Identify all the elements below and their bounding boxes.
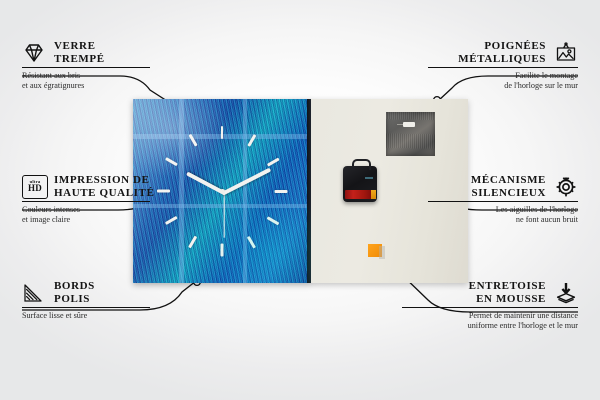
callout-title-line2: SILENCIEUX: [471, 187, 546, 200]
clock-center-pin: [220, 189, 225, 194]
callout-desc-line2: ne font aucun bruit: [428, 215, 578, 225]
callout-title-line1: ENTRETOISE: [469, 280, 546, 293]
callout-title-line1: POIGNÉES: [458, 40, 546, 53]
battery: [345, 190, 372, 199]
callout-rule: [428, 201, 578, 202]
callout-desc-line1: Surface lisse et sûre: [22, 311, 150, 321]
callout-desc-line1: Facilite le montage: [428, 71, 578, 81]
clock-minute-hand: [221, 168, 271, 196]
callout-desc-line2: et image claire: [22, 215, 154, 225]
callout-entretoise-en-mousse: ENTRETOISE EN MOUSSE Permet de maintenir…: [402, 280, 578, 331]
polished-edge-icon: [22, 281, 46, 305]
callout-desc-line1: Les aiguilles de l'horloge: [428, 205, 578, 215]
foam-spacer-icon: [554, 281, 578, 305]
picture-frame-icon: [554, 41, 578, 65]
callout-title-line2: POLIS: [54, 293, 95, 306]
callout-verre-trempe: VERRE TREMPÉ Résistant aux bris et aux é…: [22, 40, 150, 91]
callout-poignees-metalliques: POIGNÉES MÉTALLIQUES Facilite le montage…: [428, 40, 578, 91]
callout-bords-polis: BORDS POLIS Surface lisse et sûre: [22, 280, 150, 321]
diamond-icon: [22, 41, 46, 65]
callout-title-line1: BORDS: [54, 280, 95, 293]
ultra-hd-icon-bottom: HD: [28, 184, 42, 193]
callout-title-line1: MÉCANISME: [471, 174, 546, 187]
callout-title-line2: TREMPÉ: [54, 53, 105, 66]
product-image: [133, 99, 468, 283]
callout-title-line2: HAUTE QUALITÉ: [54, 187, 154, 200]
callout-title-line2: MÉTALLIQUES: [458, 53, 546, 66]
callout-desc-line2: de l'horloge sur le mur: [428, 81, 578, 91]
callout-desc-line1: Permet de maintenir une distance: [402, 311, 578, 321]
callout-desc-line2: uniforme entre l'horloge et le mur: [402, 321, 578, 331]
callout-title-line2: EN MOUSSE: [469, 293, 546, 306]
callout-desc-line1: Couleurs intenses: [22, 205, 154, 215]
metal-hanger-plate: [386, 112, 435, 156]
clock-mechanism-box: [343, 166, 377, 202]
foam-spacer-pad: [368, 244, 382, 257]
callout-impression-haute-qualite: ultra HD IMPRESSION DE HAUTE QUALITÉ Cou…: [22, 174, 154, 225]
callout-desc-line2: et aux égratignures: [22, 81, 150, 91]
callout-rule: [22, 67, 150, 68]
callout-rule: [22, 307, 150, 308]
callout-desc-line1: Résistant aux bris: [22, 71, 150, 81]
ultra-hd-icon: ultra HD: [22, 175, 46, 199]
callout-rule: [402, 307, 578, 308]
callout-rule: [428, 67, 578, 68]
infographic-canvas: VERRE TREMPÉ Résistant aux bris et aux é…: [0, 0, 600, 400]
callout-title-line1: VERRE: [54, 40, 105, 53]
clock-front-panel: [133, 99, 311, 283]
clock-second-hand: [223, 190, 224, 238]
callout-title-line1: IMPRESSION DE: [54, 174, 154, 187]
callout-mecanisme-silencieux: MÉCANISME SILENCIEUX Les aiguilles de l'…: [428, 174, 578, 225]
gear-icon: [554, 175, 578, 199]
callout-rule: [22, 201, 150, 202]
